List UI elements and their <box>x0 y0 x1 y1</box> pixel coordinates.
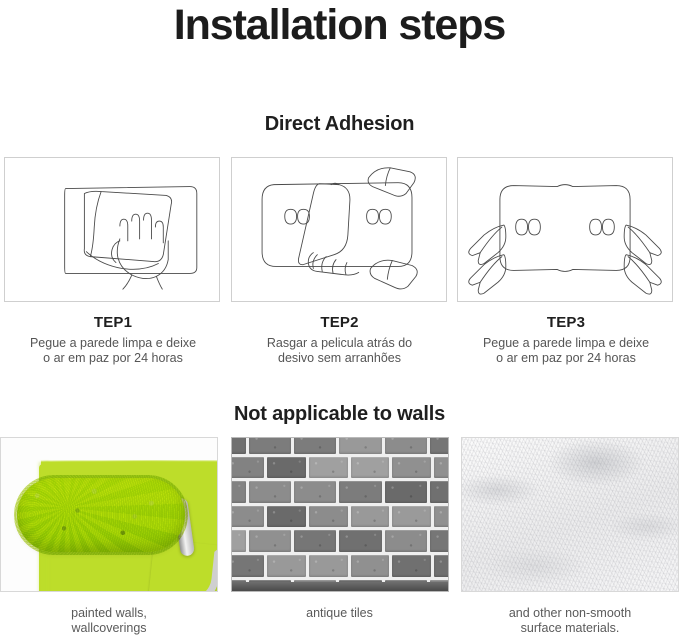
brick <box>434 555 449 577</box>
page-title: Installation steps <box>0 0 679 50</box>
brick-wall-scene <box>232 438 448 591</box>
paint-roller-scene <box>1 438 217 591</box>
brick-row <box>231 506 449 528</box>
brick <box>267 555 306 577</box>
not-applicable-caption-1: painted walls, wallcoverings <box>0 606 218 636</box>
brick <box>351 506 390 528</box>
brick-rows <box>231 437 449 587</box>
brick-row <box>231 555 449 577</box>
rough-texture-scene <box>462 438 678 591</box>
brick <box>309 506 348 528</box>
not-applicable-item-1: painted walls, wallcoverings <box>0 437 218 636</box>
installation-steps-row: TEP1 Pegue a parede limpa e deixe o ar e… <box>4 157 675 366</box>
brick <box>231 481 246 503</box>
brick <box>294 481 336 503</box>
brick <box>434 506 449 528</box>
brick <box>385 481 427 503</box>
brick <box>231 457 265 479</box>
step-illustration-frame-2 <box>231 157 447 302</box>
brick <box>434 457 449 479</box>
brick <box>430 530 448 552</box>
brick-row <box>231 481 449 503</box>
brick <box>339 530 381 552</box>
brick <box>267 506 306 528</box>
brick <box>249 437 291 454</box>
brick <box>294 530 336 552</box>
section-heading-not-applicable: Not applicable to walls <box>0 403 679 426</box>
peeling-backing-film-icon <box>232 158 446 301</box>
brick <box>351 457 390 479</box>
not-applicable-images-row: painted walls, wallcoverings antique til… <box>0 437 679 636</box>
brick <box>249 481 291 503</box>
step-illustration-frame-1 <box>4 157 220 302</box>
rough-textured-surface-photo <box>461 437 679 592</box>
brick <box>309 457 348 479</box>
brick <box>339 437 381 454</box>
brick <box>231 555 265 577</box>
paint-roller-photo <box>0 437 218 592</box>
brick <box>294 437 336 454</box>
brick <box>309 555 348 577</box>
brick-row <box>231 530 449 552</box>
step-illustration-frame-3 <box>457 157 673 302</box>
section-heading-direct-adhesion: Direct Adhesion <box>0 113 679 136</box>
not-applicable-item-3: and other non-smooth surface materials. <box>461 437 679 636</box>
step-title-3: TEP3 <box>457 314 675 331</box>
brick <box>339 481 381 503</box>
step-description-3: Pegue a parede limpa e deixe o ar em paz… <box>457 336 675 366</box>
brick-baseboard <box>232 582 448 591</box>
brick <box>231 506 265 528</box>
brick <box>392 457 431 479</box>
brick <box>351 555 390 577</box>
brick <box>430 437 448 454</box>
brick <box>392 506 431 528</box>
step-description-1: Pegue a parede limpa e deixe o ar em paz… <box>4 336 222 366</box>
paint-top-splatter <box>41 460 218 472</box>
two-hands-pressing-plate-icon <box>458 158 672 301</box>
brick <box>430 481 448 503</box>
not-applicable-item-2: antique tiles <box>231 437 449 636</box>
brick-row <box>231 457 449 479</box>
brick-row <box>231 437 449 454</box>
brick <box>385 530 427 552</box>
gray-brick-wall-photo <box>231 437 449 592</box>
step-title-1: TEP1 <box>4 314 222 331</box>
step-title-2: TEP2 <box>231 314 449 331</box>
step-card-2: TEP2 Rasgar a pelicula atrás do desivo s… <box>231 157 449 366</box>
roller-nap-sleeve <box>17 478 185 552</box>
step-card-1: TEP1 Pegue a parede limpa e deixe o ar e… <box>4 157 222 366</box>
brick <box>231 437 246 454</box>
brick <box>392 555 431 577</box>
not-applicable-caption-2: antique tiles <box>231 606 449 621</box>
hand-wiping-wall-plate-icon <box>5 158 219 301</box>
brick <box>385 437 427 454</box>
step-description-2: Rasgar a pelicula atrás do desivo sem ar… <box>231 336 449 366</box>
brick <box>231 530 246 552</box>
not-applicable-caption-3: and other non-smooth surface materials. <box>461 606 679 636</box>
step-card-3: TEP3 Pegue a parede limpa e deixe o ar e… <box>457 157 675 366</box>
brick <box>267 457 306 479</box>
brick <box>249 530 291 552</box>
